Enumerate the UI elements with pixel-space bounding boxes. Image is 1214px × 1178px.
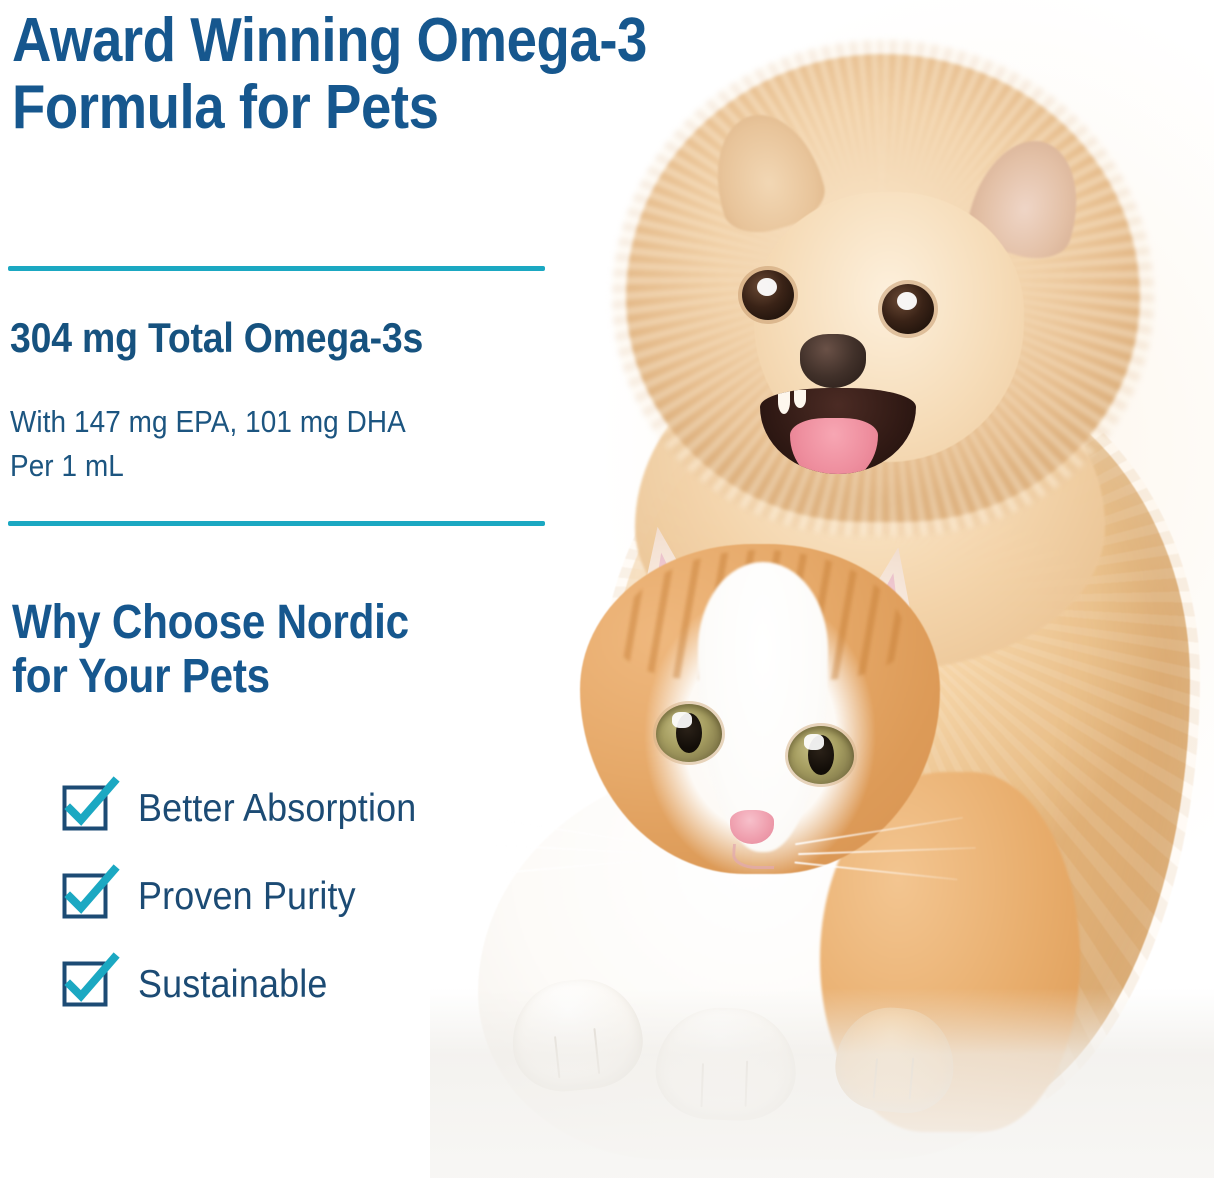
list-item: Better Absorption [62,782,532,834]
product-marketing-poster: Award Winning Omega-3 Formula for Pets 3… [0,0,1214,1178]
cat-head [580,544,940,874]
benefit-label: Sustainable [138,965,328,1004]
divider-top [8,266,545,271]
dog-nose [800,334,866,388]
checkmark-icon [62,873,108,919]
benefits-list: Better Absorption Proven Purity [62,782,532,1046]
benefit-label: Proven Purity [138,877,356,916]
dog-tooth [778,390,790,414]
marketing-copy: Award Winning Omega-3 Formula for Pets 3… [0,0,600,1178]
cat-eye-left [656,704,722,762]
checkmark-icon [62,961,108,1007]
cat-eye-glint [672,712,692,728]
list-item: Sustainable [62,958,532,1010]
cat-eye-right [788,726,854,784]
page-title: Award Winning Omega-3 Formula for Pets [12,8,751,142]
dog-eye-right [882,284,934,334]
divider-bottom [8,521,545,526]
omega-breakdown-detail: With 147 mg EPA, 101 mg DHA Per 1 mL [10,400,406,488]
dog-tooth [794,390,806,408]
dog-head [668,88,1098,488]
dog-tongue [790,418,878,474]
list-item: Proven Purity [62,870,532,922]
dog-eye-left [742,270,794,320]
benefit-label: Better Absorption [138,789,416,828]
cat-eye-glint [804,734,824,750]
omega-total-value: 304 mg Total Omega-3s [10,316,423,360]
checkmark-icon [62,785,108,831]
section-heading: Why Choose Nordic for Your Pets [12,596,470,704]
